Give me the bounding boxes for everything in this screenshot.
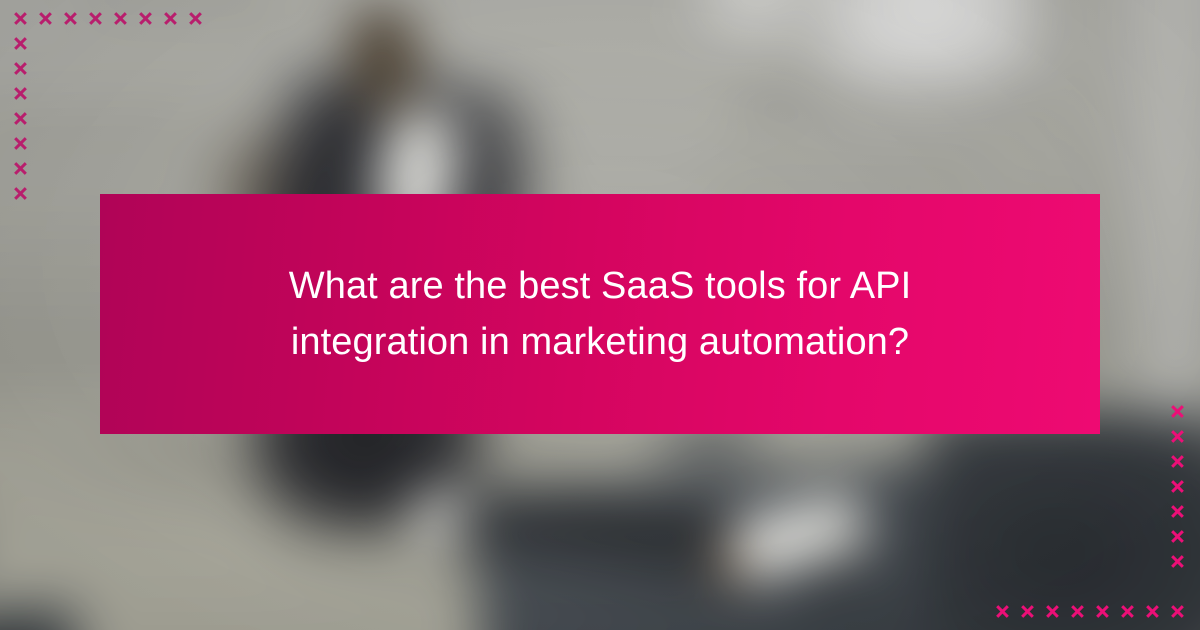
x-cross-icon bbox=[1165, 424, 1190, 449]
x-cross-icon bbox=[1115, 599, 1140, 624]
x-cross-icon bbox=[1090, 599, 1115, 624]
x-cross-icon bbox=[83, 6, 108, 31]
x-cross-icon bbox=[33, 6, 58, 31]
x-cross-icon bbox=[133, 6, 158, 31]
headline-text: What are the best SaaS tools for API int… bbox=[280, 258, 920, 370]
x-cross-icon bbox=[1065, 599, 1090, 624]
x-cross-icon bbox=[8, 6, 33, 31]
headline-banner: What are the best SaaS tools for API int… bbox=[100, 194, 1100, 434]
x-cross-icon bbox=[8, 181, 33, 206]
x-cross-icon bbox=[8, 131, 33, 156]
x-cross-icon bbox=[1165, 599, 1190, 624]
x-cross-icon bbox=[1165, 549, 1190, 574]
x-cross-icon bbox=[990, 599, 1015, 624]
x-cross-icon bbox=[183, 6, 208, 31]
x-cross-icon bbox=[1040, 599, 1065, 624]
x-cross-icon bbox=[158, 6, 183, 31]
decorative-x-pattern-top-row bbox=[8, 6, 208, 31]
x-cross-icon bbox=[1165, 524, 1190, 549]
x-cross-icon bbox=[1165, 399, 1190, 424]
decorative-x-pattern-bottom-row bbox=[990, 599, 1190, 624]
decorative-x-pattern-right-column bbox=[1165, 399, 1190, 574]
x-cross-icon bbox=[1165, 499, 1190, 524]
x-cross-icon bbox=[8, 81, 33, 106]
x-cross-icon bbox=[8, 31, 33, 56]
x-cross-icon bbox=[58, 6, 83, 31]
x-cross-icon bbox=[1140, 599, 1165, 624]
x-cross-icon bbox=[108, 6, 133, 31]
decorative-x-pattern-left-column bbox=[8, 31, 33, 206]
x-cross-icon bbox=[1015, 599, 1040, 624]
x-cross-icon bbox=[8, 106, 33, 131]
x-cross-icon bbox=[1165, 474, 1190, 499]
x-cross-icon bbox=[8, 56, 33, 81]
x-cross-icon bbox=[8, 156, 33, 181]
x-cross-icon bbox=[1165, 449, 1190, 474]
social-share-card: What are the best SaaS tools for API int… bbox=[0, 0, 1200, 630]
